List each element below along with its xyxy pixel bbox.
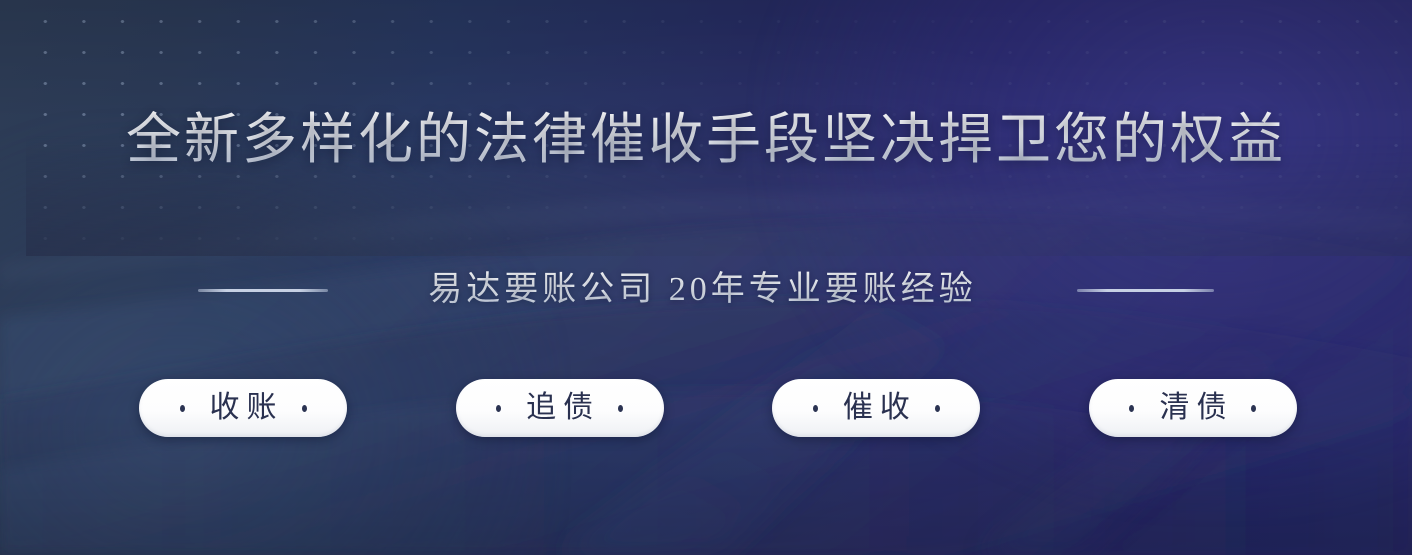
bullet-dot-icon	[180, 405, 185, 412]
pill-label: 催收	[836, 391, 917, 425]
bullet-dot-icon	[496, 405, 501, 412]
pill-button-cuishou[interactable]: 催收	[772, 379, 980, 437]
bullet-dot-icon	[1251, 405, 1256, 412]
pill-label: 追债	[519, 391, 600, 425]
subtitle-row: 易达要账公司 20年专业要账经验	[0, 268, 1412, 312]
pill-label: 收账	[203, 391, 284, 425]
service-pill-group: 收账 追债 催收 清债	[139, 379, 1297, 437]
bullet-dot-icon	[618, 405, 623, 412]
pill-label: 清债	[1152, 391, 1233, 425]
bullet-dot-icon	[302, 405, 307, 412]
pill-button-zhuizhai[interactable]: 追债	[456, 379, 664, 437]
rule-left-icon	[198, 289, 328, 292]
banner-content: 全新多样化的法律催收手段坚决捍卫您的权益 易达要账公司 20年专业要账经验 收账…	[0, 0, 1412, 555]
rule-right-icon	[1077, 289, 1214, 292]
pill-button-shouzhang[interactable]: 收账	[139, 379, 347, 437]
bullet-dot-icon	[935, 405, 940, 412]
bullet-dot-icon	[1129, 405, 1134, 412]
banner-headline: 全新多样化的法律催收手段坚决捍卫您的权益	[0, 109, 1412, 171]
pill-button-qingzhai[interactable]: 清债	[1089, 379, 1297, 437]
bullet-dot-icon	[813, 405, 818, 412]
banner-subtitle: 易达要账公司 20年专业要账经验	[428, 268, 977, 312]
promo-banner: 全新多样化的法律催收手段坚决捍卫您的权益 易达要账公司 20年专业要账经验 收账…	[0, 0, 1412, 555]
